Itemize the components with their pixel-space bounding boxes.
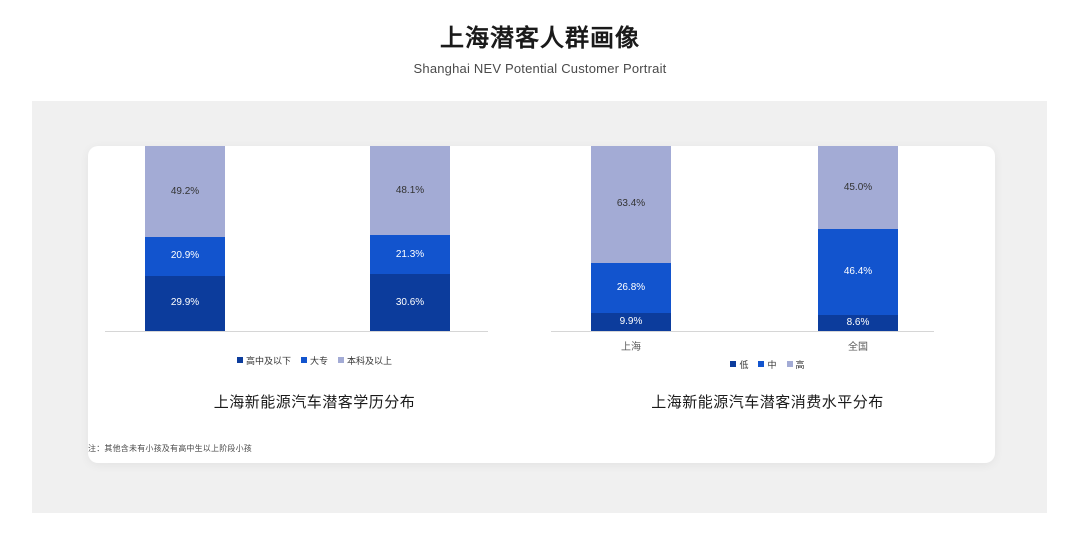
legend-item[interactable]: 高中及以下 [237, 354, 291, 367]
charts-row: 49.2%20.9%29.9%48.1%21.3%30.6% 高中及以下大专本科… [88, 146, 995, 463]
bar-segment[interactable]: 49.2% [145, 146, 225, 237]
legend-swatch-icon [787, 361, 793, 367]
bar-segment-value: 21.3% [396, 250, 424, 260]
x-axis-label: 全国 [848, 338, 868, 353]
plot-area-education: 49.2%20.9%29.9%48.1%21.3%30.6% [88, 146, 541, 336]
bar-segment[interactable]: 46.4% [818, 229, 898, 315]
x-axis-labels-consumption: 上海全国 [541, 338, 994, 354]
bar-segment[interactable]: 20.9% [145, 237, 225, 276]
bar-segment[interactable]: 29.9% [145, 276, 225, 331]
stacked-bar[interactable]: 48.1%21.3%30.6% [370, 146, 450, 331]
bar-segment-value: 29.9% [171, 298, 199, 308]
bar-segment[interactable]: 9.9% [591, 313, 671, 331]
bar-segment[interactable]: 26.8% [591, 263, 671, 313]
chart-education: 49.2%20.9%29.9%48.1%21.3%30.6% 高中及以下大专本科… [88, 146, 541, 463]
chart-consumption: 63.4%26.8%9.9%45.0%46.4%8.6% 上海全国 低中高 上海… [541, 146, 994, 463]
bar-segment-value: 20.9% [171, 251, 199, 261]
legend-label: 大专 [310, 356, 328, 366]
chart-caption-education: 上海新能源汽车潜客学历分布 [88, 391, 541, 412]
bar-segment-value: 8.6% [847, 318, 870, 328]
legend-item[interactable]: 低 [730, 358, 748, 371]
legend-item[interactable]: 中 [758, 358, 776, 371]
bar-segment-value: 45.0% [844, 183, 872, 193]
legend-label: 中 [767, 360, 776, 370]
legend-swatch-icon [758, 361, 764, 367]
legend-swatch-icon [730, 361, 736, 367]
legend-swatch-icon [301, 357, 307, 363]
bar-segment[interactable]: 8.6% [818, 315, 898, 331]
bar-segment[interactable]: 21.3% [370, 235, 450, 274]
bar-segment-value: 26.8% [617, 283, 645, 293]
chart-caption-consumption: 上海新能源汽车潜客消费水平分布 [541, 391, 994, 412]
legend-label: 本科及以上 [347, 356, 392, 366]
legend-label: 高 [796, 360, 805, 370]
legend-label: 低 [739, 360, 748, 370]
bar-segment[interactable]: 45.0% [818, 146, 898, 229]
bar-segment-value: 46.4% [844, 267, 872, 277]
chart-axis-line [105, 331, 488, 332]
legend-swatch-icon [237, 357, 243, 363]
page-title: 上海潜客人群画像 [0, 24, 1080, 54]
footnote: 注：其他含未有小孩及有高中生以上阶段小孩 [88, 443, 252, 454]
legend-label: 高中及以下 [246, 356, 291, 366]
bar-segment[interactable]: 63.4% [591, 146, 671, 263]
stacked-bar[interactable]: 49.2%20.9%29.9% [145, 146, 225, 331]
bar-segment-value: 49.2% [171, 187, 199, 197]
legend-item[interactable]: 高 [787, 358, 805, 371]
bar-segment-value: 9.9% [620, 317, 643, 327]
page-header: 上海潜客人群画像 Shanghai NEV Potential Customer… [0, 0, 1080, 78]
bar-segment-value: 63.4% [617, 199, 645, 209]
bar-segment-value: 30.6% [396, 298, 424, 308]
plot-area-consumption: 63.4%26.8%9.9%45.0%46.4%8.6% [541, 146, 994, 336]
chart-axis-line [551, 331, 934, 332]
legend-item[interactable]: 本科及以上 [338, 354, 392, 367]
legend-education: 高中及以下大专本科及以上 [88, 354, 541, 367]
page-subtitle: Shanghai NEV Potential Customer Portrait [0, 60, 1080, 78]
legend-item[interactable]: 大专 [301, 354, 328, 367]
bar-segment-value: 48.1% [396, 186, 424, 196]
x-axis-label: 上海 [621, 338, 641, 353]
legend-swatch-icon [338, 357, 344, 363]
stacked-bar[interactable]: 45.0%46.4%8.6% [818, 146, 898, 331]
x-axis-labels-education [88, 338, 541, 354]
stacked-bar[interactable]: 63.4%26.8%9.9% [591, 146, 671, 331]
legend-consumption: 低中高 [541, 358, 994, 371]
bar-segment[interactable]: 30.6% [370, 274, 450, 331]
bar-segment[interactable]: 48.1% [370, 146, 450, 235]
